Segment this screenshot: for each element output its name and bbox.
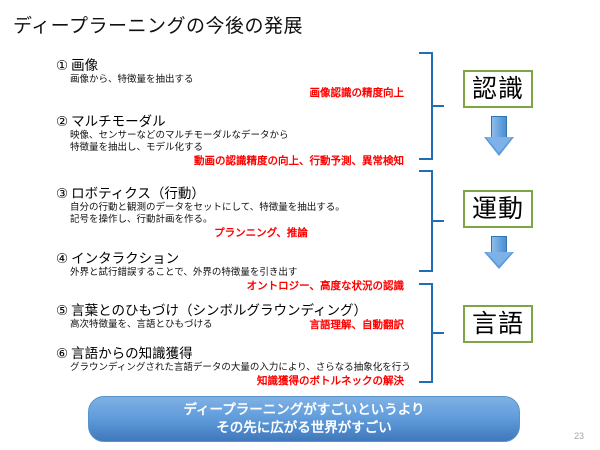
- stage-box-motion: 運動: [463, 190, 533, 228]
- list-item-1-number: ①: [56, 57, 68, 74]
- list-item-5-heading: ⑤言葉とのひもづけ（シンボルグラウンディング）: [56, 302, 426, 319]
- summary-banner-line-2: その先に広がる世界がすごい: [216, 419, 392, 437]
- list-item-4-heading: ④インタラクション: [56, 250, 426, 267]
- list-item-2-heading: ②マルチモーダル: [56, 113, 426, 130]
- summary-banner: ディープラーニングがすごいというより その先に広がる世界がすごい: [88, 396, 520, 442]
- arrow-shaft: [491, 236, 507, 253]
- arrow-shaft: [491, 116, 507, 138]
- list-item-6-note: 知識獲得のボトルネックの解決: [56, 375, 426, 388]
- stage-box-recognition: 認識: [463, 70, 533, 108]
- list-item-4-detail-0: 外界と試行錯誤することで、外界の特徴量を引き出す: [70, 267, 426, 279]
- stage-box-language: 言語: [463, 305, 533, 343]
- list-item-5: ⑤言葉とのひもづけ（シンボルグラウンディング） 高次特徴量を、言語とひもづける …: [56, 302, 426, 333]
- list-item-4: ④インタラクション 外界と試行錯誤することで、外界の特徴量を引き出す オントロジ…: [56, 250, 426, 293]
- list-item-2-note: 動画の認識精度の向上、行動予測、異常検知: [56, 155, 426, 168]
- list-item-4-title: インタラクション: [71, 251, 179, 266]
- list-item-4-number: ④: [56, 250, 68, 267]
- list-item-5-detail-0: 高次特徴量を、言語とひもづける: [70, 319, 213, 331]
- page-number: 23: [574, 431, 584, 441]
- list-item-3-heading: ③ロボティクス（行動）: [56, 185, 426, 202]
- list-item-6-number: ⑥: [56, 345, 68, 362]
- list-item-3-detail-1: 記号を操作し、行動計画を作る。: [70, 214, 426, 226]
- list-item-1-note: 画像認識の精度向上: [56, 87, 426, 100]
- list-item-6: ⑥言語からの知識獲得 グラウンディングされた言語データの大量の入力により、さらな…: [56, 345, 426, 388]
- list-item-2: ②マルチモーダル 映像、センサーなどのマルチモーダルなデータから 特徴量を抽出し…: [56, 113, 426, 168]
- slide-canvas: ディープラーニングの今後の発展 ①画像 画像から、特徴量を抽出する 画像認識の精…: [0, 0, 600, 450]
- list-item-3: ③ロボティクス（行動） 自分の行動と観測のデータをセットにして、特徴量を抽出する…: [56, 185, 426, 240]
- list-item-2-detail-0: 映像、センサーなどのマルチモーダルなデータから: [70, 130, 426, 142]
- list-item-1: ①画像 画像から、特徴量を抽出する 画像認識の精度向上: [56, 57, 426, 100]
- list-item-3-note: プランニング、推論: [56, 227, 426, 240]
- page-title: ディープラーニングの今後の発展: [13, 15, 303, 39]
- summary-banner-line-1: ディープラーニングがすごいというより: [184, 401, 425, 419]
- list-item-5-title: 言葉とのひもづけ（シンボルグラウンディング）: [71, 303, 367, 318]
- list-item-6-title: 言語からの知識獲得: [71, 346, 193, 361]
- brace-tip-top: [419, 52, 432, 54]
- list-item-3-title: ロボティクス（行動）: [71, 186, 205, 201]
- list-item-1-heading: ①画像: [56, 57, 426, 74]
- brace-pointer: [433, 105, 444, 107]
- list-item-3-detail-0: 自分の行動と観測のデータをセットにして、特徴量を抽出する。: [70, 202, 426, 214]
- brace-tip-top: [419, 170, 432, 172]
- list-item-1-detail-0: 画像から、特徴量を抽出する: [70, 74, 426, 86]
- arrow-head-inner: [486, 137, 512, 153]
- down-arrow-icon: [484, 116, 514, 156]
- list-item-6-detail-0: グラウンディングされた言語データの大量の入力により、さらなる抽象化を行う: [70, 362, 426, 374]
- list-item-2-title: マルチモーダル: [71, 114, 166, 129]
- list-item-5-note: 言語理解、自動翻訳: [310, 319, 427, 332]
- brace-bar: [431, 170, 433, 272]
- list-item-5-row: 高次特徴量を、言語とひもづける 言語理解、自動翻訳: [56, 319, 426, 333]
- brace-bar: [431, 283, 433, 383]
- list-item-6-heading: ⑥言語からの知識獲得: [56, 345, 426, 362]
- list-item-1-title: 画像: [71, 58, 98, 73]
- arrow-head-inner: [486, 252, 512, 266]
- brace-pointer: [433, 220, 444, 222]
- list-item-2-number: ②: [56, 113, 68, 130]
- brace-bar: [431, 52, 433, 160]
- list-item-2-detail-1: 特徴量を抽出し、モデル化する: [70, 142, 426, 154]
- brace-pointer: [433, 332, 444, 334]
- down-arrow-icon: [484, 236, 514, 270]
- list-item-5-number: ⑤: [56, 302, 68, 319]
- list-item-4-note: オントロジー、高度な状況の認識: [56, 280, 426, 293]
- list-item-3-number: ③: [56, 185, 68, 202]
